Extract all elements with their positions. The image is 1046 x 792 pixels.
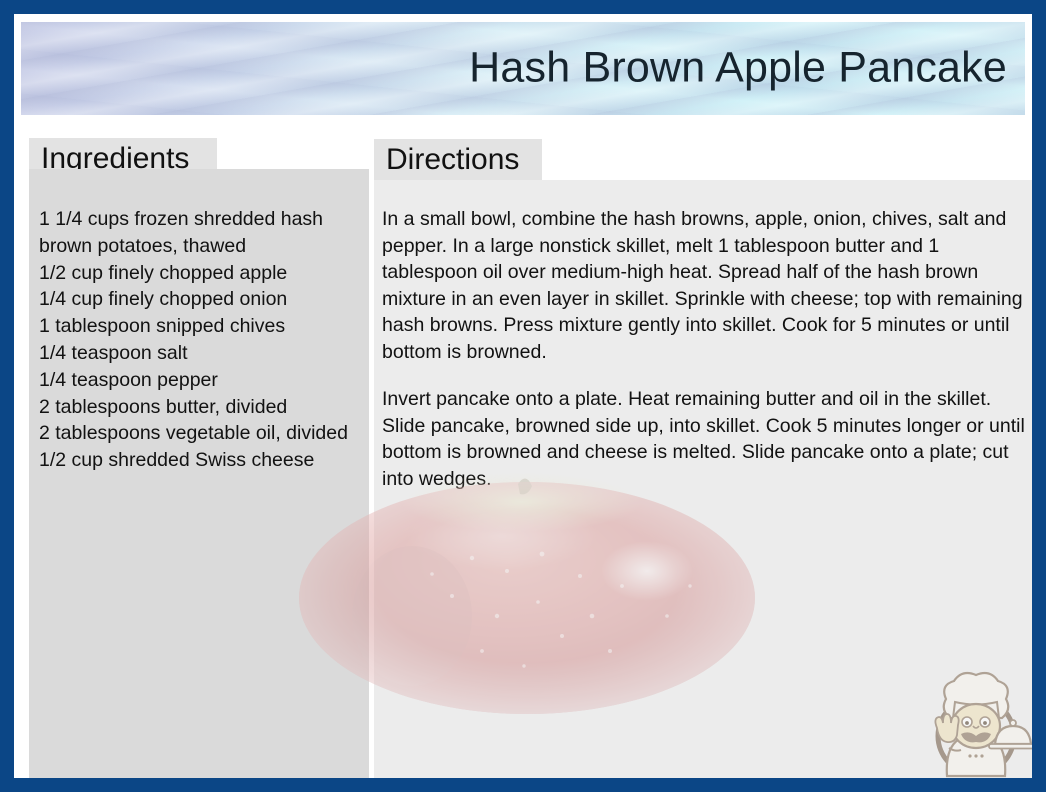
recipe-card: Hash Brown Apple Pancake Ingredients Dir… — [0, 0, 1046, 792]
ingredient-item: 2 tablespoons vegetable oil, divided — [39, 420, 361, 447]
ingredients-list: 1 1/4 cups frozen shredded hash brown po… — [39, 206, 361, 474]
ingredient-item: 1 tablespoon snipped chives — [39, 313, 361, 340]
chef-logo-icon — [917, 664, 1035, 784]
direction-paragraph: Invert pancake onto a plate. Heat remain… — [382, 386, 1032, 492]
ingredient-item: 1/4 teaspoon salt — [39, 340, 361, 367]
ingredient-item: 1/2 cup finely chopped apple — [39, 260, 361, 287]
title-banner: Hash Brown Apple Pancake — [21, 22, 1025, 115]
page-title: Hash Brown Apple Pancake — [469, 43, 1007, 92]
ingredient-item: 1 1/4 cups frozen shredded hash brown po… — [39, 206, 361, 260]
ingredients-panel: 1 1/4 cups frozen shredded hash brown po… — [29, 169, 369, 792]
directions-text: In a small bowl, combine the hash browns… — [382, 206, 1032, 513]
ingredient-item: 1/4 cup finely chopped onion — [39, 286, 361, 313]
ingredient-item: 1/2 cup shredded Swiss cheese — [39, 447, 361, 474]
direction-paragraph: In a small bowl, combine the hash browns… — [382, 206, 1032, 365]
directions-heading: Directions — [386, 143, 519, 177]
ingredient-item: 2 tablespoons butter, divided — [39, 394, 361, 421]
directions-heading-strip: Directions — [374, 139, 542, 183]
ingredient-item: 1/4 teaspoon pepper — [39, 367, 361, 394]
